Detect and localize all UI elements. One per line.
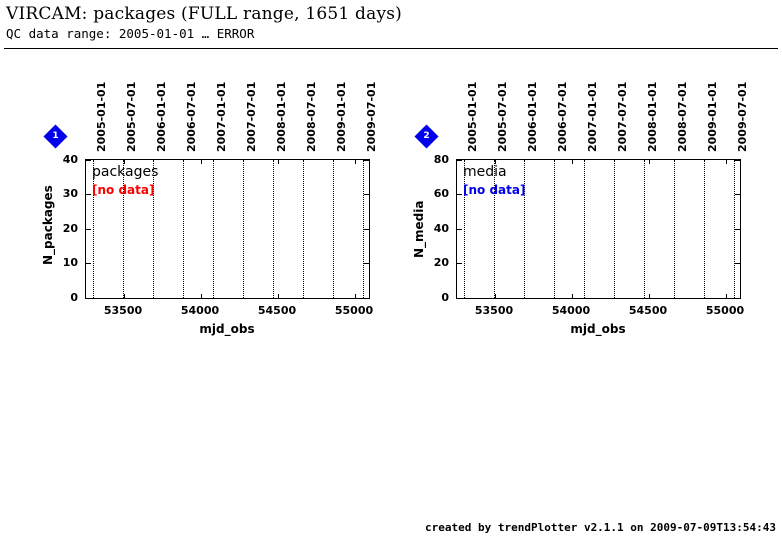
date-label-8: 2008-07-01: [676, 82, 689, 152]
panel-name-packages: packages: [92, 164, 158, 180]
ytick-mark-0: [86, 298, 91, 299]
ytick-mark-10: [86, 263, 91, 264]
ytick-mark-0: [457, 298, 462, 299]
gridline-date-3: [153, 160, 154, 298]
nodata-label-packages: [no data]: [92, 183, 154, 197]
xtick-mark-top-4: [355, 160, 356, 164]
gridline-date-4: [554, 160, 555, 298]
date-label-2: 2005-07-01: [496, 82, 509, 152]
xtick-label-53500: 53500: [93, 304, 153, 317]
date-label-1: 2005-01-01: [466, 82, 479, 152]
xtick-label-55000: 55000: [695, 304, 755, 317]
xtick-label-54500: 54500: [618, 304, 678, 317]
date-label-8: 2008-07-01: [305, 82, 318, 152]
xtick-label-54000: 54000: [541, 304, 601, 317]
gridline-date-2: [494, 160, 495, 298]
ytick-mark-right-0: [364, 298, 369, 299]
gridline-date-5: [213, 160, 214, 298]
xtick-label-54500: 54500: [247, 304, 307, 317]
yaxis-title-media: N_media: [412, 201, 426, 259]
xtick-mark-top-3: [649, 160, 650, 164]
xtick-mark-1: [124, 294, 125, 298]
date-label-4: 2006-07-01: [185, 82, 198, 152]
xtick-mark-2: [201, 294, 202, 298]
xtick-mark-1: [495, 294, 496, 298]
nodata-label-media: [no data]: [463, 183, 525, 197]
date-label-3: 2006-01-01: [155, 82, 168, 152]
gridline-date-9: [333, 160, 334, 298]
ytick-mark-20: [457, 263, 462, 264]
date-label-4: 2006-07-01: [556, 82, 569, 152]
date-label-7: 2008-01-01: [646, 82, 659, 152]
date-label-5: 2007-01-01: [586, 82, 599, 152]
plot-area-packages: packages [no data]: [85, 159, 370, 299]
xtick-mark-2: [572, 294, 573, 298]
date-label-10: 2009-07-01: [365, 82, 378, 152]
page-title: VIRCAM: packages (FULL range, 1651 days): [6, 4, 402, 24]
ytick-label-0: 0: [419, 291, 449, 304]
gridline-date-8: [303, 160, 304, 298]
gridline-date-5: [584, 160, 585, 298]
date-label-9: 2009-01-01: [706, 82, 719, 152]
xtick-label-55000: 55000: [324, 304, 384, 317]
xtick-label-54000: 54000: [170, 304, 230, 317]
xtick-mark-top-3: [278, 160, 279, 164]
ytick-label-80: 80: [419, 153, 449, 166]
gridline-date-3: [524, 160, 525, 298]
gridline-date-7: [644, 160, 645, 298]
ytick-mark-80: [457, 160, 462, 161]
ytick-mark-right-0: [735, 298, 740, 299]
panel-name-media: media: [463, 164, 507, 180]
ytick-label-60: 60: [419, 187, 449, 200]
date-label-6: 2007-07-01: [245, 82, 258, 152]
panel-1-badge-number: 1: [47, 128, 64, 145]
ytick-mark-40: [457, 229, 462, 230]
xtick-mark-4: [726, 294, 727, 298]
gridline-date-2: [123, 160, 124, 298]
gridline-date-8: [674, 160, 675, 298]
footer-credit: created by trendPlotter v2.1.1 on 2009-0…: [425, 521, 776, 534]
xtick-mark-3: [278, 294, 279, 298]
ytick-mark-right-40: [364, 160, 369, 161]
date-label-1: 2005-01-01: [95, 82, 108, 152]
gridline-date-4: [183, 160, 184, 298]
xtick-mark-top-2: [572, 160, 573, 164]
ytick-mark-right-20: [364, 229, 369, 230]
xaxis-title-media: mjd_obs: [538, 322, 658, 336]
ytick-mark-right-20: [735, 263, 740, 264]
date-label-6: 2007-07-01: [616, 82, 629, 152]
ytick-label-0: 0: [48, 291, 78, 304]
date-label-3: 2006-01-01: [526, 82, 539, 152]
ytick-mark-20: [86, 229, 91, 230]
xtick-mark-top-2: [201, 160, 202, 164]
ytick-mark-right-80: [735, 160, 740, 161]
gridline-date-1: [93, 160, 94, 298]
ytick-mark-40: [86, 160, 91, 161]
date-label-9: 2009-01-01: [335, 82, 348, 152]
date-label-10: 2009-07-01: [736, 82, 749, 152]
page-subtitle: QC data range: 2005-01-01 … ERROR: [6, 26, 254, 41]
panel-2-badge-number: 2: [418, 128, 435, 145]
gridline-date-7: [273, 160, 274, 298]
xtick-mark-4: [355, 294, 356, 298]
date-label-5: 2007-01-01: [215, 82, 228, 152]
gridline-date-9: [704, 160, 705, 298]
gridline-date-6: [243, 160, 244, 298]
xtick-mark-top-4: [726, 160, 727, 164]
ytick-mark-60: [457, 194, 462, 195]
ytick-mark-30: [86, 194, 91, 195]
gridline-date-1: [464, 160, 465, 298]
gridline-date-6: [614, 160, 615, 298]
date-label-7: 2008-01-01: [275, 82, 288, 152]
date-label-2: 2005-07-01: [125, 82, 138, 152]
xtick-mark-3: [649, 294, 650, 298]
xtick-label-53500: 53500: [464, 304, 524, 317]
ytick-label-40: 40: [48, 153, 78, 166]
header-divider: [4, 48, 778, 49]
ytick-mark-right-40: [735, 229, 740, 230]
plot-area-media: media [no data]: [456, 159, 741, 299]
plot-page: VIRCAM: packages (FULL range, 1651 days)…: [0, 0, 782, 542]
yaxis-title-packages: N_packages: [41, 185, 55, 265]
ytick-mark-right-30: [364, 194, 369, 195]
ytick-mark-right-10: [364, 263, 369, 264]
xaxis-title-packages: mjd_obs: [167, 322, 287, 336]
ytick-mark-right-60: [735, 194, 740, 195]
